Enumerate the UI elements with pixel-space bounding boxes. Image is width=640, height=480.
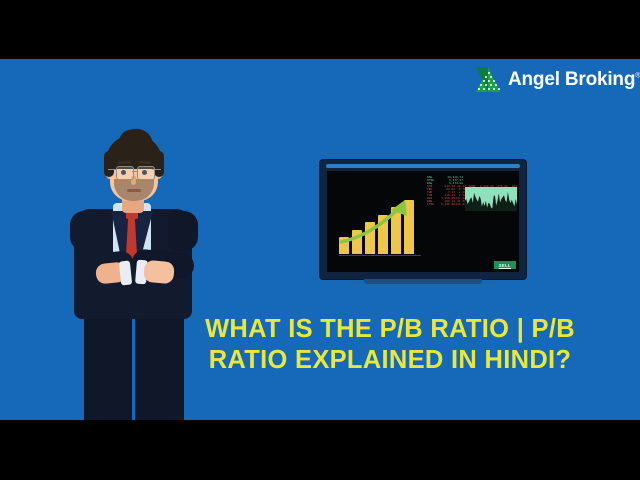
letterbox-bottom [0,420,640,480]
ticker-index-rows: NSE26,111.74NYSE5,177.37BSE9,474.88 [427,176,517,185]
thumbnail-canvas: Angel Broking® [0,59,640,420]
growth-arrow-icon [339,194,423,250]
trademark-symbol: ® [635,73,640,80]
video-title-line-2: RATIO EXPLAINED IN HINDI? [140,345,640,376]
sell-button[interactable]: SELL [494,261,516,269]
character-shoulder-left [70,211,100,251]
brand-name: Angel Broking® [508,70,640,89]
brand-name-text: Angel Broking [508,69,635,90]
chart-baseline [339,255,421,256]
glasses-bridge [132,171,138,172]
character-cuff-left [119,260,132,285]
monitor-screen: NSE26,111.74NYSE5,177.37BSE9,474.88 STB8… [327,171,519,272]
video-title: WHAT IS THE P/B RATIO | P/B RATIO EXPLAI… [140,314,640,375]
trading-terminal-monitor: NSE26,111.74NYSE5,177.37BSE9,474.88 STB8… [320,160,526,284]
growth-bar-chart [339,196,421,260]
brand-logo: Angel Broking® [476,67,640,92]
character-shoulder-right [168,211,198,251]
character-mouth [127,189,141,192]
glasses-lens-left [116,166,134,180]
character-hand-right [143,260,175,285]
video-title-line-1: WHAT IS THE P/B RATIO | P/B [205,315,575,343]
video-thumbnail: Angel Broking® [0,0,640,480]
monitor-stand-base [348,284,498,287]
angel-triangle-logo-icon [476,67,501,92]
sparkline-chart [465,187,517,211]
glasses-lens-right [137,166,155,180]
stock-ticker-table: NSE26,111.74NYSE5,177.37BSE9,474.88 STB8… [427,176,517,270]
monitor-top-highlight [326,164,520,168]
letterbox-top [0,0,640,59]
character-leg-gap [132,317,135,420]
